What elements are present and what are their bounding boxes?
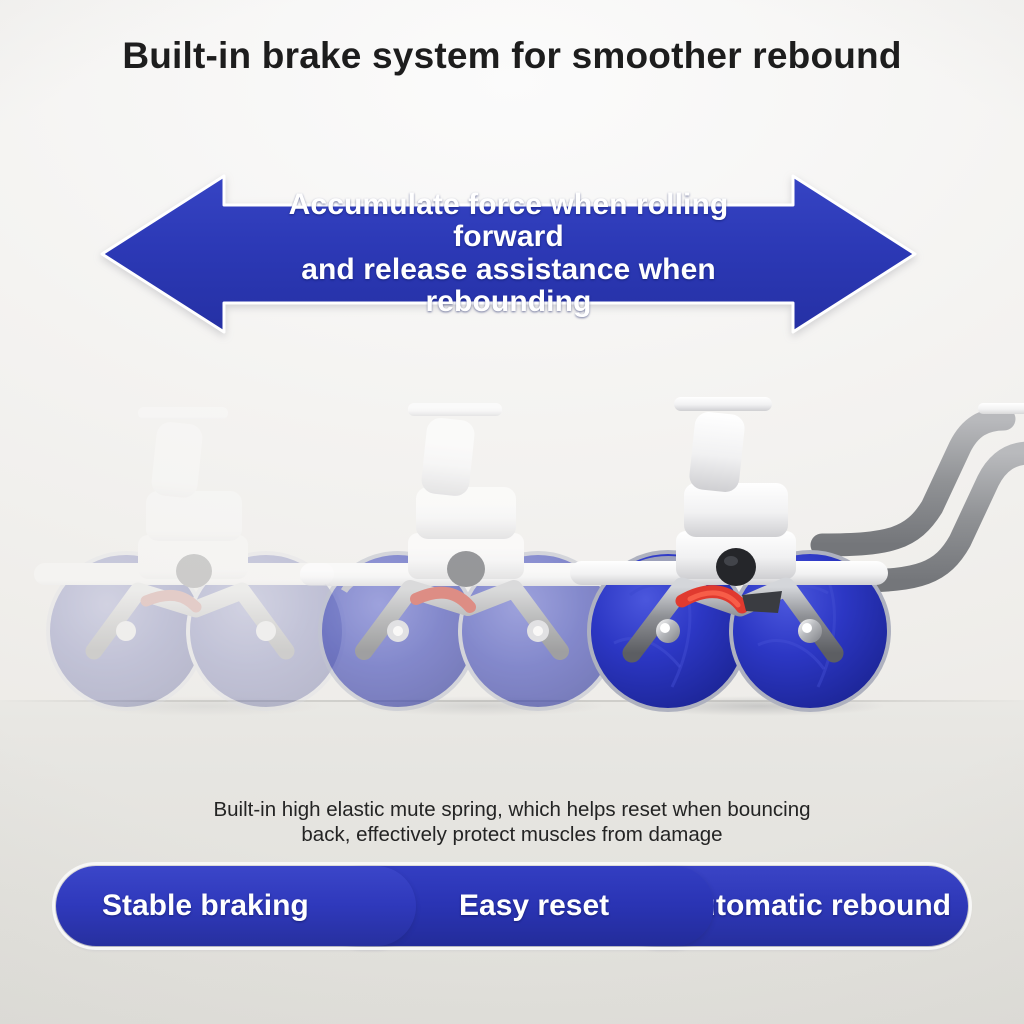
- ab-roller-instance-solid-front: [570, 395, 1000, 725]
- page-title: Built-in brake system for smoother rebou…: [0, 35, 1024, 77]
- caption-line-1: Built-in high elastic mute spring, which…: [110, 797, 914, 822]
- feature-pill-label: Easy reset: [459, 889, 609, 923]
- double-arrow-banner: Accumulate force when rolling forward an…: [96, 168, 921, 340]
- arrow-text-line-2: and release assistance when rebounding: [236, 254, 781, 319]
- feature-pill-label: Automatic rebound: [676, 889, 951, 923]
- caption-line-2: back, effectively protect muscles from d…: [110, 822, 914, 847]
- feature-pill-label: Stable braking: [102, 889, 309, 923]
- infographic-canvas: Built-in brake system for smoother rebou…: [0, 0, 1024, 1024]
- arrow-banner-text: Accumulate force when rolling forward an…: [96, 189, 921, 319]
- feature-pill-group: Automatic rebound Easy reset Stable brak…: [56, 866, 968, 946]
- arrow-text-line-1: Accumulate force when rolling forward: [289, 188, 729, 253]
- floor-surface: [0, 700, 1024, 1024]
- product-motion-sequence: [0, 395, 1024, 725]
- product-caption: Built-in high elastic mute spring, which…: [110, 797, 914, 848]
- feature-pill-stable-braking[interactable]: Stable braking: [56, 866, 416, 946]
